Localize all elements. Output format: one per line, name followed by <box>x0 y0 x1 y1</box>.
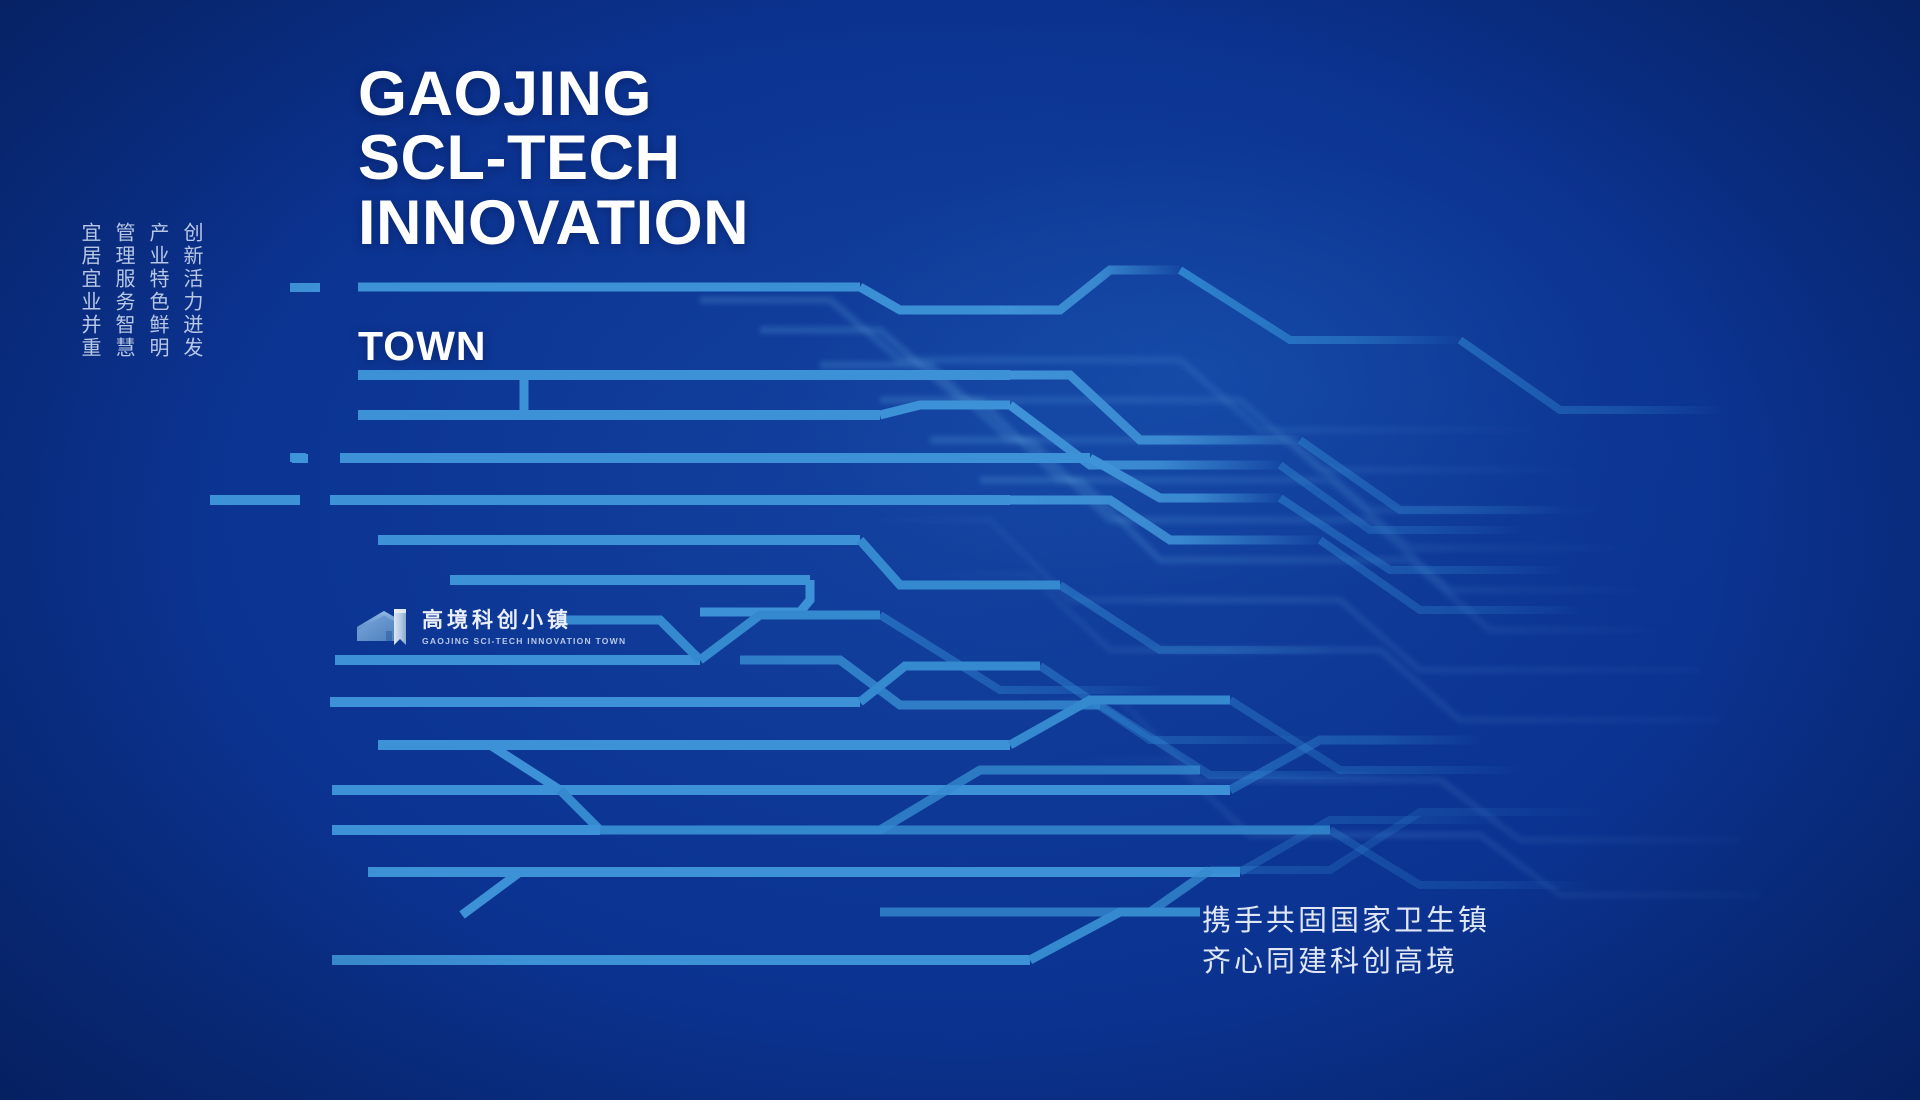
vertical-slogan-column-3: 管理服务智慧 <box>112 222 136 360</box>
logo-english-name: GAOJING SCI-TECH INNOVATION TOWN <box>422 636 626 646</box>
headline-line-3: INNOVATION <box>358 191 749 255</box>
poster-canvas: GAOJING SCL-TECH INNOVATION TOWN 创新活力迸发 … <box>0 0 1920 1100</box>
circuit-trace-artwork <box>0 0 1920 1100</box>
vertical-slogan-column-4: 宜居宜业并重 <box>78 222 102 360</box>
vertical-slogan-column-1: 创新活力迸发 <box>180 222 204 360</box>
house-building-icon <box>354 605 412 649</box>
corner-slogan-line-2: 齐心同建科创高境 <box>1202 941 1490 982</box>
vignette-overlay <box>0 0 1920 1100</box>
headline-line-2: SCL-TECH <box>358 126 749 190</box>
headline-line-1: GAOJING <box>358 62 749 126</box>
headline-line-4: TOWN <box>358 323 487 370</box>
corner-slogan-line-1: 携手共固国家卫生镇 <box>1202 900 1490 941</box>
brand-logo-text: 高境科创小镇 GAOJING SCI-TECH INNOVATION TOWN <box>422 608 626 645</box>
background-gradient <box>0 0 1920 1100</box>
page-title: GAOJING SCL-TECH INNOVATION <box>358 62 749 255</box>
corner-slogan: 携手共固国家卫生镇 齐心同建科创高境 <box>1202 900 1490 982</box>
brand-logo-lockup: 高境科创小镇 GAOJING SCI-TECH INNOVATION TOWN <box>354 605 626 649</box>
vertical-slogan: 创新活力迸发 产业特色鲜明 管理服务智慧 宜居宜业并重 <box>78 222 204 360</box>
vertical-slogan-column-2: 产业特色鲜明 <box>146 222 170 360</box>
logo-chinese-name: 高境科创小镇 <box>422 608 626 632</box>
